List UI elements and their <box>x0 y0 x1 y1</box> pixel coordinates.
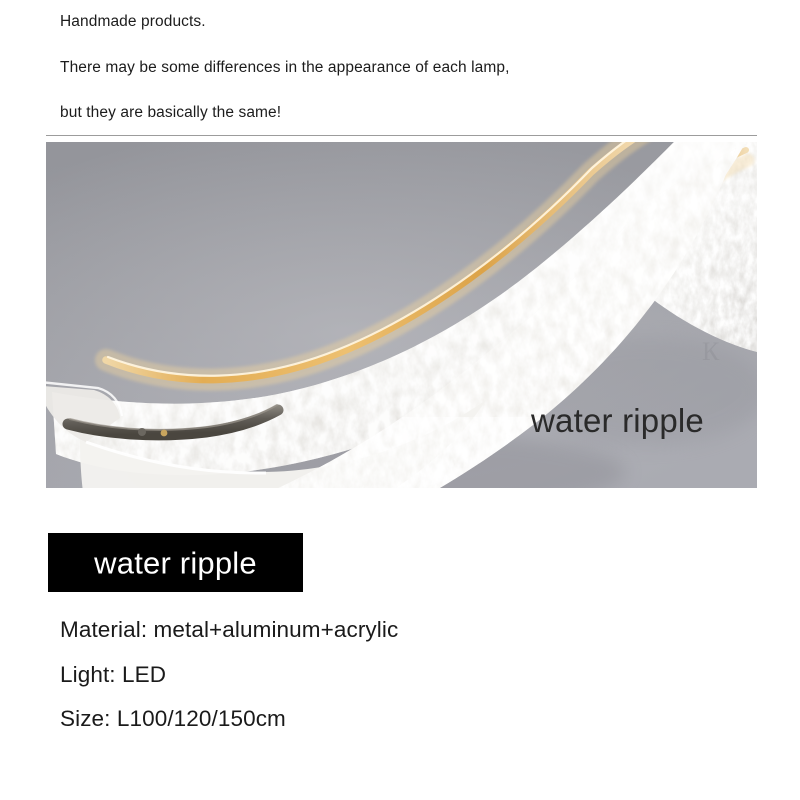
spine-screw-2 <box>161 430 168 437</box>
disclaimer-block: Handmade products. There may be some dif… <box>60 0 760 121</box>
horizontal-divider <box>46 135 757 136</box>
variant-name-label: water ripple <box>48 547 303 578</box>
disclaimer-line-1: Handmade products. <box>60 14 760 30</box>
disclaimer-line-2: There may be some differences in the app… <box>60 60 760 76</box>
disclaimer-line-3: but they are basically the same! <box>60 105 760 121</box>
spec-light: Light: LED <box>60 664 660 687</box>
product-photo: К water ripple <box>46 142 757 488</box>
spine-screw-1 <box>138 428 146 436</box>
spec-size: Size: L100/120/150cm <box>60 708 660 731</box>
watermark-glyph: К <box>702 337 720 366</box>
spec-material: Material: metal+aluminum+acrylic <box>60 619 660 642</box>
photo-caption-water-ripple: water ripple <box>531 404 704 437</box>
variant-name-badge: water ripple <box>48 533 303 592</box>
specification-list: Material: metal+aluminum+acrylic Light: … <box>60 619 660 731</box>
